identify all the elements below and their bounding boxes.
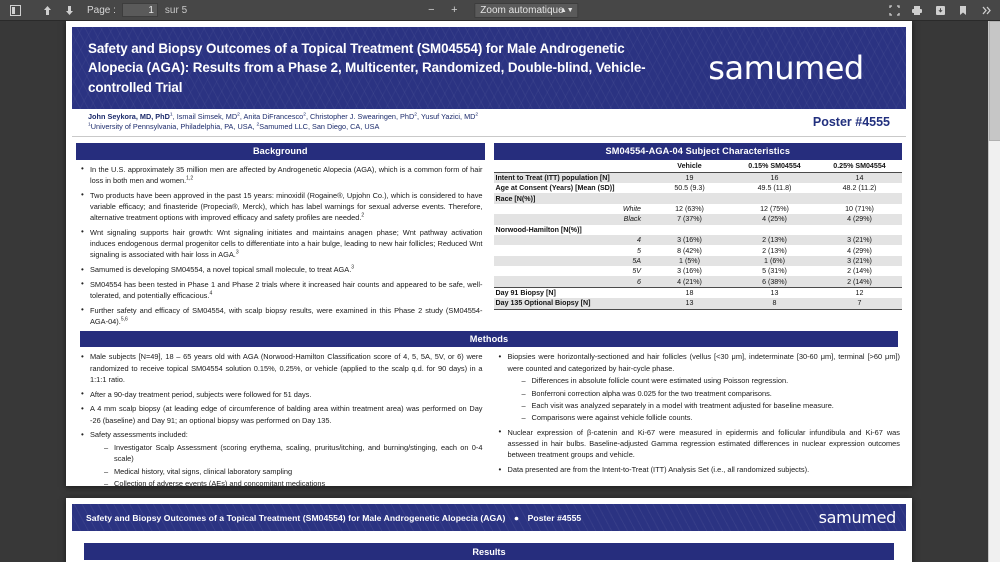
table-cell: 4 (25%) — [732, 214, 817, 224]
page2-running-header: Safety and Biopsy Outcomes of a Topical … — [72, 504, 906, 531]
table-cell — [817, 193, 902, 203]
download-icon[interactable] — [930, 1, 950, 19]
table-cell: 3 (16%) — [647, 235, 732, 245]
methods-section: Methods Male subjects [N=49], 18 – 65 ye… — [72, 331, 906, 493]
table-header-row: Vehicle0.15% SM045540.25% SM04554 — [494, 161, 903, 173]
table-row: Age at Consent (Years) [Mean (SD)]50.5 (… — [494, 183, 903, 193]
affiliation-index-2: 2 — [257, 122, 260, 127]
vertical-scrollbar[interactable] — [988, 21, 1000, 562]
methods-left-bullet-list: Male subjects [N=49], 18 – 65 years old … — [76, 347, 485, 489]
table-corner-cell — [494, 161, 648, 173]
methods-bullet-subitem: Comparisons were against vehicle follicl… — [522, 412, 901, 423]
poster-header-band: Safety and Biopsy Outcomes of a Topical … — [72, 27, 906, 109]
table-cell — [732, 225, 817, 235]
scrollbar-thumb[interactable] — [989, 21, 1000, 141]
table-row-label: Intent to Treat (ITT) population [N] — [494, 172, 648, 183]
table-cell: 8 (42%) — [647, 245, 732, 255]
reference-marker: 3 — [351, 265, 354, 271]
background-bullet: SM04554 has been tested in Phase 1 and P… — [80, 279, 483, 302]
methods-bullet: After a 90-day treatment period, subject… — [80, 389, 483, 400]
table-row: Day 135 Optional Biopsy [N]1387 — [494, 298, 903, 309]
toolbar-right-group — [884, 1, 996, 19]
section-header-methods: Methods — [80, 331, 898, 348]
page2-running-title: Safety and Biopsy Outcomes of a Topical … — [86, 513, 581, 523]
methods-bullet-subitem: Differences in absolute follicle count w… — [522, 375, 901, 386]
table-cell: 2 (13%) — [732, 245, 817, 255]
authors-band: John Seykora, MD, PhD1, Ismail Simsek, M… — [72, 109, 906, 137]
table-cell: 13 — [647, 298, 732, 309]
authors-block: John Seykora, MD, PhD1, Ismail Simsek, M… — [88, 112, 478, 132]
samumed-logo-container: samumed — [666, 27, 906, 109]
methods-bullet: Data presented are from the Intent-to-Tr… — [498, 464, 901, 475]
table-row: Black7 (37%)4 (25%)4 (29%) — [494, 214, 903, 224]
table-row: Day 91 Biopsy [N]181312 — [494, 287, 903, 298]
table-cell: 7 (37%) — [647, 214, 732, 224]
table-cell — [647, 193, 732, 203]
table-row: White12 (63%)12 (75%)10 (71%) — [494, 204, 903, 214]
table-row-label: White — [494, 204, 648, 214]
arrow-down-icon[interactable] — [59, 1, 79, 19]
affiliation-marker-3: 2 — [303, 113, 306, 118]
bookmark-icon[interactable] — [953, 1, 973, 19]
methods-bullet-sublist: Differences in absolute follicle count w… — [508, 374, 901, 424]
table-cell: 49.5 (11.8) — [732, 183, 817, 193]
methods-bullet: Biopsies were horizontally-sectioned and… — [498, 351, 901, 423]
table-row-label: 5 — [494, 245, 648, 255]
page-total-label: sur 5 — [165, 5, 187, 16]
table-row-label: Race [N(%)] — [494, 193, 648, 203]
reference-marker: 2 — [361, 213, 364, 219]
table-row-label: 4 — [494, 235, 648, 245]
table-row: Race [N(%)] — [494, 193, 903, 203]
table-column-header: Vehicle — [647, 161, 732, 173]
samumed-logo-small: samumed — [819, 508, 896, 527]
table-row: 64 (21%)6 (38%)2 (14%) — [494, 276, 903, 287]
background-bullet: In the U.S. approximately 35 million men… — [80, 164, 483, 187]
reference-marker: 4 — [209, 291, 212, 297]
methods-bullet: Nuclear expression of β-catenin and Ki-6… — [498, 427, 901, 461]
background-bullet: Further safety and efficacy of SM04554, … — [80, 305, 483, 328]
methods-right-bullet-list: Biopsies were horizontally-sectioned and… — [494, 347, 903, 475]
table-cell: 12 — [817, 287, 902, 298]
page2-poster-number: Poster #4555 — [528, 513, 582, 523]
toolbar-left-group: Page : sur 5 — [0, 1, 187, 19]
table-cell — [732, 193, 817, 203]
methods-bullet: Male subjects [N=49], 18 – 65 years old … — [80, 351, 483, 385]
table-row-label: 5V — [494, 266, 648, 276]
page2-title-text: Safety and Biopsy Outcomes of a Topical … — [86, 513, 505, 523]
background-bullet: Samumed is developing SM04554, a novel t… — [80, 264, 483, 275]
section-header-background: Background — [76, 143, 485, 160]
affiliations-line: 1University of Pennsylvania, Philadelphi… — [88, 122, 478, 132]
page2-body: Results — [72, 531, 906, 560]
zoom-level-value: Zoom automatique — [480, 5, 563, 16]
section-header-results: Results — [84, 543, 894, 560]
lead-author: John Seykora, MD, PhD — [88, 112, 170, 121]
methods-bullet-subitem: Medical history, vital signs, clinical l… — [104, 466, 483, 477]
methods-left-column: Male subjects [N=49], 18 – 65 years old … — [76, 347, 485, 492]
table-cell: 13 — [732, 287, 817, 298]
table-row-label: 5A — [494, 256, 648, 266]
affiliation-marker-1: 1 — [170, 113, 173, 118]
arrow-up-icon[interactable] — [37, 1, 57, 19]
pdf-viewer-scroll-area[interactable]: Safety and Biopsy Outcomes of a Topical … — [0, 21, 988, 562]
table-cell: 16 — [732, 172, 817, 183]
authors-line: John Seykora, MD, PhD1, Ismail Simsek, M… — [88, 112, 478, 122]
methods-bullet-subitem: Each visit was analyzed separately in a … — [522, 400, 901, 411]
table-row: 43 (16%)2 (13%)3 (21%) — [494, 235, 903, 245]
page2-separator-dot: ● — [514, 513, 519, 523]
table-cell: 12 (63%) — [647, 204, 732, 214]
table-row: Intent to Treat (ITT) population [N]1916… — [494, 172, 903, 183]
table-row-label: 6 — [494, 276, 648, 287]
table-cell: 19 — [647, 172, 732, 183]
table-cell: 3 (16%) — [647, 266, 732, 276]
methods-bullet: A 4 mm scalp biopsy (at leading edge of … — [80, 403, 483, 426]
methods-columns: Male subjects [N=49], 18 – 65 years old … — [76, 347, 902, 492]
methods-bullet: Safety assessments included:Investigator… — [80, 429, 483, 489]
table-cell: 4 (29%) — [817, 214, 902, 224]
sidebar-toggle-icon[interactable] — [5, 1, 25, 19]
table-row: 58 (42%)2 (13%)4 (29%) — [494, 245, 903, 255]
table-cell: 6 (38%) — [732, 276, 817, 287]
pdf-viewer-toolbar: Page : sur 5 − + Zoom automatique ▲▼ — [0, 0, 1000, 21]
chevron-updown-icon: ▲▼ — [560, 7, 574, 14]
reference-marker: 1,2 — [186, 175, 193, 181]
table-row-label: Day 135 Optional Biopsy [N] — [494, 298, 648, 309]
page-number-input[interactable] — [122, 3, 158, 17]
table-cell: 50.5 (9.3) — [647, 183, 732, 193]
table-row-label: Day 91 Biopsy [N] — [494, 287, 648, 298]
table-cell: 48.2 (11.2) — [817, 183, 902, 193]
table-cell: 3 (21%) — [817, 235, 902, 245]
background-column: Background In the U.S. approximately 35 … — [76, 143, 485, 331]
table-cell: 4 (29%) — [817, 245, 902, 255]
table-cell: 18 — [647, 287, 732, 298]
pdf-page-1: Safety and Biopsy Outcomes of a Topical … — [66, 21, 912, 486]
fullscreen-icon[interactable] — [884, 1, 904, 19]
background-bullet: Two products have been approved in the p… — [80, 190, 483, 224]
toolbar-zoom-group: − + Zoom automatique ▲▼ — [421, 1, 578, 19]
table-column-header: 0.25% SM04554 — [817, 161, 902, 173]
printer-icon[interactable] — [907, 1, 927, 19]
methods-right-column: Biopsies were horizontally-sectioned and… — [494, 347, 903, 492]
table-row-label: Black — [494, 214, 648, 224]
table-row: 5A1 (5%)1 (6%)3 (21%) — [494, 256, 903, 266]
methods-bullet-subitem: Investigator Scalp Assessment (scoring e… — [104, 442, 483, 465]
table-cell: 10 (71%) — [817, 204, 902, 214]
affiliation-marker-5: 2 — [475, 113, 478, 118]
table-row-label: Norwood-Hamilton [N(%)] — [494, 225, 648, 235]
table-cell: 1 (5%) — [647, 256, 732, 266]
page-label: Page : — [87, 5, 116, 16]
pdf-page-2: Safety and Biopsy Outcomes of a Topical … — [66, 498, 912, 562]
methods-bullet-subitem: Collection of adverse events (AEs) and c… — [104, 478, 483, 489]
table-row: Norwood-Hamilton [N(%)] — [494, 225, 903, 235]
double-chevron-right-icon[interactable] — [976, 1, 996, 19]
table-cell: 2 (14%) — [817, 276, 902, 287]
table-cell: 1 (6%) — [732, 256, 817, 266]
methods-bullet-subitem: Bonferroni correction alpha was 0.025 fo… — [522, 388, 901, 399]
table-cell: 7 — [817, 298, 902, 309]
background-bullet-list: In the U.S. approximately 35 million men… — [76, 160, 485, 328]
affiliation-marker-2: 2 — [237, 113, 240, 118]
table-row: 5V3 (16%)5 (31%)2 (14%) — [494, 266, 903, 276]
characteristics-column: SM04554-AGA-04 Subject Characteristics V… — [494, 143, 903, 331]
table-row-label: Age at Consent (Years) [Mean (SD)] — [494, 183, 648, 193]
zoom-level-select[interactable]: Zoom automatique ▲▼ — [474, 3, 578, 18]
poster-body: Background In the U.S. approximately 35 … — [72, 137, 906, 331]
affiliation-index-1: 1 — [88, 122, 91, 127]
table-cell — [647, 225, 732, 235]
zoom-out-button[interactable]: − — [421, 1, 441, 19]
table-cell — [817, 225, 902, 235]
table-column-header: 0.15% SM04554 — [732, 161, 817, 173]
zoom-in-button[interactable]: + — [444, 1, 464, 19]
table-cell: 5 (31%) — [732, 266, 817, 276]
page-title: Safety and Biopsy Outcomes of a Topical … — [72, 39, 662, 96]
poster-number: Poster #4555 — [813, 112, 896, 129]
subject-characteristics-table: Vehicle0.15% SM045540.25% SM04554Intent … — [494, 161, 903, 310]
methods-bullet-sublist: Investigator Scalp Assessment (scoring e… — [90, 441, 483, 490]
table-cell: 2 (14%) — [817, 266, 902, 276]
samumed-logo: samumed — [708, 49, 863, 87]
background-bullet: Wnt signaling supports hair growth: Wnt … — [80, 227, 483, 261]
reference-marker: 3 — [236, 250, 239, 256]
table-cell: 8 — [732, 298, 817, 309]
table-cell: 14 — [817, 172, 902, 183]
table-cell: 12 (75%) — [732, 204, 817, 214]
table-cell: 4 (21%) — [647, 276, 732, 287]
table-cell: 3 (21%) — [817, 256, 902, 266]
affiliation-marker-4: 2 — [414, 113, 417, 118]
reference-marker: 5,6 — [121, 317, 128, 323]
table-cell: 2 (13%) — [732, 235, 817, 245]
section-header-characteristics: SM04554-AGA-04 Subject Characteristics — [494, 143, 903, 160]
